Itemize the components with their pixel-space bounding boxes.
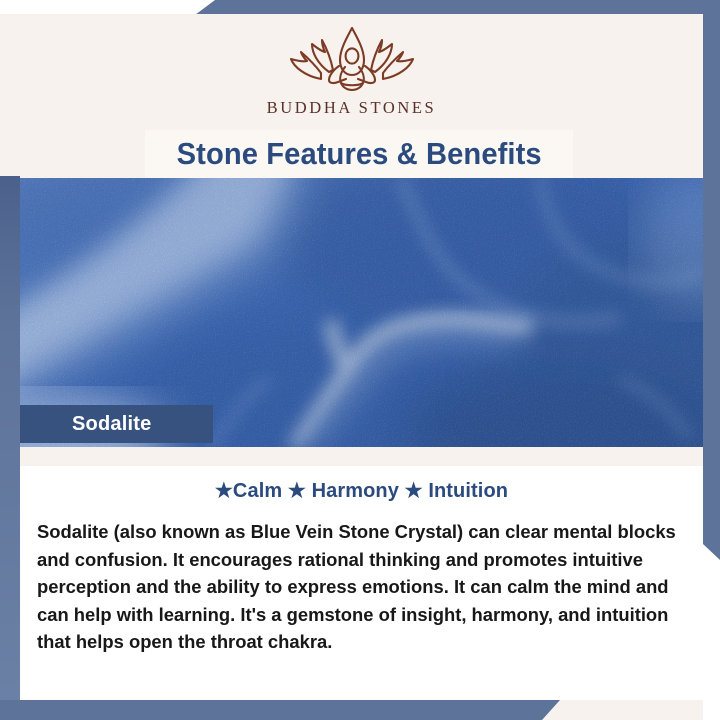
- stone-features-poster: BUDDHA STONES Stone Features & Benefits: [0, 0, 720, 720]
- frame-accent-bottom: [0, 700, 560, 720]
- frame-accent-top: [195, 0, 720, 15]
- content-panel: ★Calm ★ Harmony ★ Intuition Sodalite (al…: [20, 466, 703, 700]
- stone-description: Sodalite (also known as Blue Vein Stone …: [20, 503, 703, 656]
- brand-name: BUDDHA STONES: [267, 98, 437, 118]
- lotus-meditation-icon: [277, 22, 427, 94]
- stone-name: Sodalite: [72, 413, 151, 436]
- frame-accent-left: [0, 176, 20, 700]
- keyword-list: ★Calm ★ Harmony ★ Intuition: [20, 466, 703, 503]
- frame-accent-right: [703, 0, 720, 560]
- title-banner: Stone Features & Benefits: [145, 130, 573, 178]
- stone-name-tag: Sodalite: [20, 405, 213, 443]
- divider-strip: [20, 447, 703, 466]
- page-title: Stone Features & Benefits: [176, 136, 541, 172]
- brand-logo: BUDDHA STONES: [0, 22, 703, 118]
